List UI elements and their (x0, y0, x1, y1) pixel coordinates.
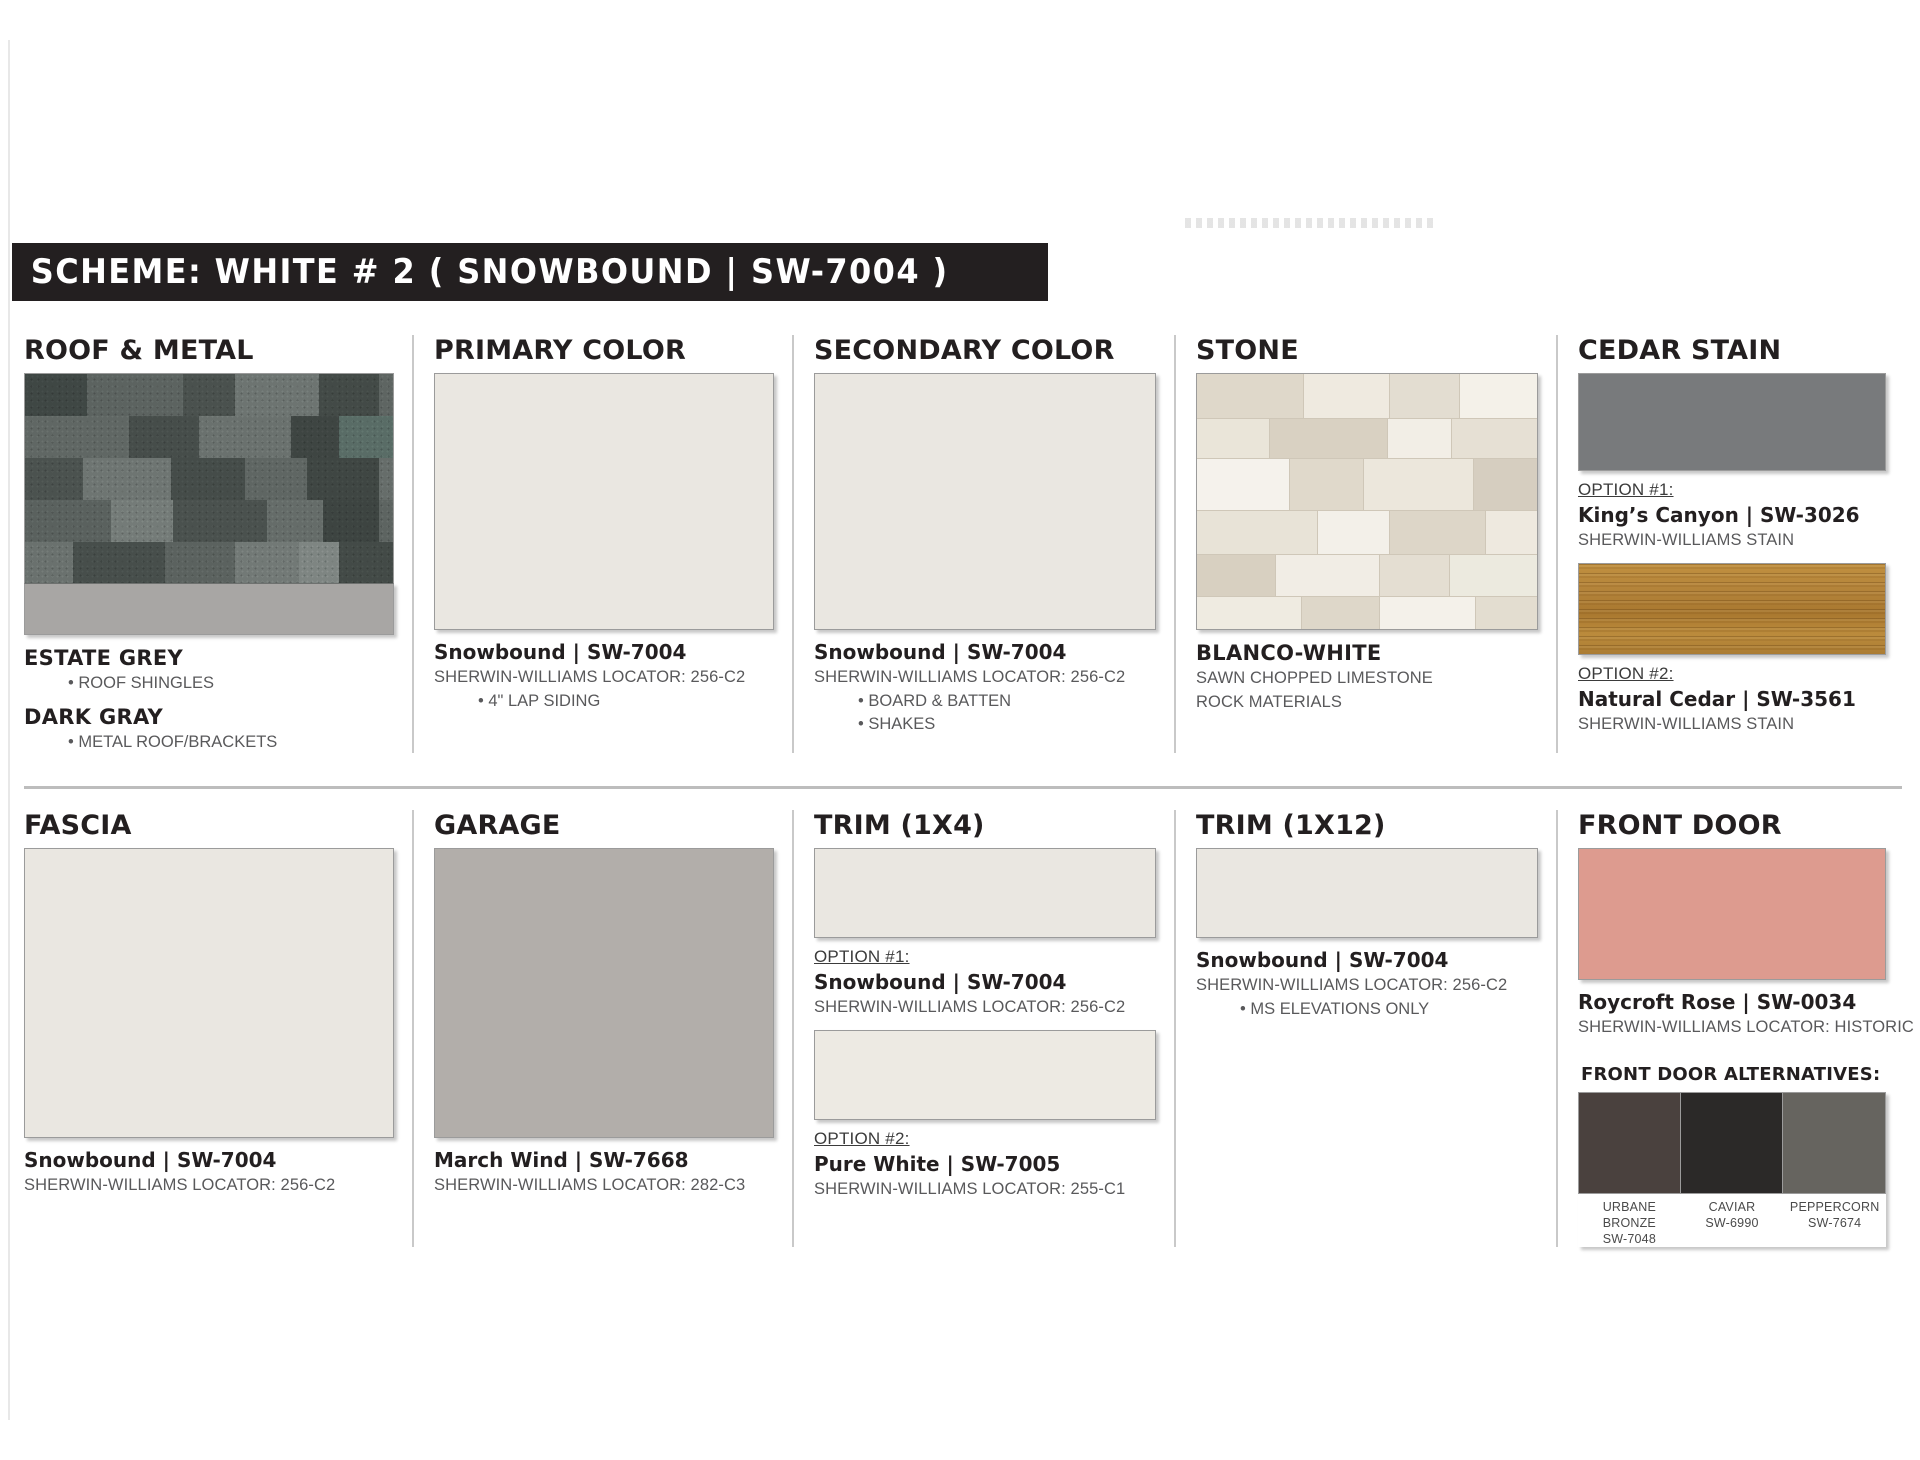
column-cedar-stain: CEDAR STAIN OPTION #1: King’s Canyon | S… (1556, 335, 1904, 753)
alt-name-urbane-bronze: URBANE BRONZE (1578, 1199, 1681, 1232)
primary-color-swatch[interactable] (434, 373, 774, 630)
stone-name: BLANCO-WHITE (1196, 641, 1538, 665)
primary-color-locator: SHERWIN-WILLIAMS LOCATOR: 256-C2 (434, 667, 774, 688)
column-title-garage: GARAGE (434, 810, 774, 841)
trim1x4-option1-name: Snowbound | SW-7004 (814, 971, 1156, 994)
stone-sub-limestone: SAWN CHOPPED LIMESTONE (1196, 668, 1538, 689)
column-title-fascia: FASCIA (24, 810, 394, 841)
scheme-banner: SCHEME: WHITE # 2 ( SNOWBOUND | SW-7004 … (12, 243, 1048, 301)
secondary-bullet-board-batten: • BOARD & BATTEN (814, 691, 1156, 712)
trim1x12-swatch[interactable] (1196, 848, 1538, 938)
column-title-trim-1x4: TRIM (1X4) (814, 810, 1156, 841)
column-trim-1x4: TRIM (1X4) OPTION #1: Snowbound | SW-700… (792, 810, 1174, 1247)
front-door-swatch[interactable] (1578, 848, 1886, 980)
alt-swatch-urbane-bronze[interactable]: URBANE BRONZE SW-7048 (1578, 1092, 1681, 1248)
alt-code-peppercorn: SW-7674 (1783, 1215, 1886, 1231)
front-door-locator: SHERWIN-WILLIAMS LOCATOR: HISTORIC (1578, 1017, 1886, 1038)
garage-locator: SHERWIN-WILLIAMS LOCATOR: 282-C3 (434, 1175, 774, 1196)
column-fascia: FASCIA Snowbound | SW-7004 SHERWIN-WILLI… (24, 810, 412, 1247)
alt-name-peppercorn: PEPPERCORN (1783, 1199, 1886, 1215)
column-stone: STONE (1174, 335, 1556, 753)
cedar-option1-swatch[interactable] (1578, 373, 1886, 471)
alt-code-urbane-bronze: SW-7048 (1578, 1231, 1681, 1247)
front-door-name: Roycroft Rose | SW-0034 (1578, 991, 1886, 1014)
column-trim-1x12: TRIM (1X12) Snowbound | SW-7004 SHERWIN-… (1174, 810, 1556, 1247)
column-title-roof: ROOF & METAL (24, 335, 394, 366)
column-primary-color: PRIMARY COLOR Snowbound | SW-7004 SHERWI… (412, 335, 792, 753)
secondary-color-swatch[interactable] (814, 373, 1156, 630)
cedar-option2-label: OPTION #2: (1578, 664, 1886, 684)
column-front-door: FRONT DOOR Roycroft Rose | SW-0034 SHERW… (1556, 810, 1904, 1247)
cedar-option1-label: OPTION #1: (1578, 480, 1886, 500)
trim1x12-name: Snowbound | SW-7004 (1196, 949, 1538, 972)
trim1x4-option1-swatch[interactable] (814, 848, 1156, 938)
alt-chip-peppercorn[interactable] (1783, 1092, 1886, 1194)
trim1x4-option1-label: OPTION #1: (814, 947, 1156, 967)
materials-row-1: ROOF & METAL (24, 335, 1904, 753)
trim1x4-option2-label: OPTION #2: (814, 1129, 1156, 1149)
secondary-color-name: Snowbound | SW-7004 (814, 641, 1156, 664)
fascia-name: Snowbound | SW-7004 (24, 1149, 394, 1172)
column-title-primary: PRIMARY COLOR (434, 335, 774, 366)
alt-name-caviar: CAVIAR (1681, 1199, 1784, 1215)
column-secondary-color: SECONDARY COLOR Snowbound | SW-7004 SHER… (792, 335, 1174, 753)
column-title-stone: STONE (1196, 335, 1538, 366)
cedar-option2-name: Natural Cedar | SW-3561 (1578, 688, 1886, 711)
cedar-option2-swatch[interactable] (1578, 563, 1886, 655)
scheme-title: SCHEME: WHITE # 2 ( SNOWBOUND | SW-7004 … (12, 252, 949, 292)
garage-swatch[interactable] (434, 848, 774, 1138)
fascia-swatch[interactable] (24, 848, 394, 1138)
materials-row-2: FASCIA Snowbound | SW-7004 SHERWIN-WILLI… (24, 810, 1904, 1247)
cedar-option1-name: King’s Canyon | SW-3026 (1578, 504, 1886, 527)
column-title-trim-1x12: TRIM (1X12) (1196, 810, 1538, 841)
roof-metal-swatch[interactable] (24, 583, 394, 635)
color-scheme-sheet: SCHEME: WHITE # 2 ( SNOWBOUND | SW-7004 … (0, 0, 1920, 1460)
trim1x4-option2-name: Pure White | SW-7005 (814, 1153, 1156, 1176)
column-title-front-door: FRONT DOOR (1578, 810, 1886, 841)
trim1x4-option2-swatch[interactable] (814, 1030, 1156, 1120)
trim1x4-option1-sub: SHERWIN-WILLIAMS LOCATOR: 256-C2 (814, 997, 1156, 1018)
roof-name-dark-gray: DARK GRAY (24, 705, 394, 729)
front-door-alternatives-title: FRONT DOOR ALTERNATIVES: (1581, 1064, 1886, 1085)
cedar-option2-sub: SHERWIN-WILLIAMS STAIN (1578, 714, 1886, 735)
page-left-rule (8, 40, 10, 1420)
roof-name-estate-grey: ESTATE GREY (24, 646, 394, 670)
alt-chip-caviar[interactable] (1681, 1092, 1784, 1194)
fascia-locator: SHERWIN-WILLIAMS LOCATOR: 256-C2 (24, 1175, 394, 1196)
shingle-grain-texture (25, 374, 393, 583)
alt-swatch-caviar[interactable]: CAVIAR SW-6990 (1681, 1092, 1784, 1248)
stone-swatch[interactable] (1196, 373, 1538, 630)
stone-sub-rock-materials: ROCK MATERIALS (1196, 692, 1538, 713)
column-title-cedar: CEDAR STAIN (1578, 335, 1886, 366)
alt-chip-urbane-bronze[interactable] (1578, 1092, 1681, 1194)
secondary-bullet-shakes: • SHAKES (814, 714, 1156, 735)
alt-swatch-peppercorn[interactable]: PEPPERCORN SW-7674 (1783, 1092, 1886, 1248)
primary-bullet-lap-siding: • 4" LAP SIDING (434, 691, 774, 712)
wood-grain-texture (1579, 564, 1885, 654)
primary-color-name: Snowbound | SW-7004 (434, 641, 774, 664)
trim1x4-option2-sub: SHERWIN-WILLIAMS LOCATOR: 255-C1 (814, 1179, 1156, 1200)
scan-artifact (1185, 218, 1435, 228)
roof-shingle-swatch[interactable] (24, 373, 394, 583)
column-roof-and-metal: ROOF & METAL (24, 335, 412, 753)
front-door-alternatives-strip: URBANE BRONZE SW-7048 CAVIAR SW-6990 PEP… (1578, 1092, 1886, 1248)
trim1x12-bullet-ms-elevations: • MS ELEVATIONS ONLY (1196, 999, 1538, 1020)
row-divider (24, 786, 1902, 789)
column-garage: GARAGE March Wind | SW-7668 SHERWIN-WILL… (412, 810, 792, 1247)
alt-code-caviar: SW-6990 (1681, 1215, 1784, 1231)
roof-bullet-shingles: • ROOF SHINGLES (24, 673, 394, 694)
garage-name: March Wind | SW-7668 (434, 1149, 774, 1172)
secondary-color-locator: SHERWIN-WILLIAMS LOCATOR: 256-C2 (814, 667, 1156, 688)
cedar-option1-sub: SHERWIN-WILLIAMS STAIN (1578, 530, 1886, 551)
trim1x12-locator: SHERWIN-WILLIAMS LOCATOR: 256-C2 (1196, 975, 1538, 996)
column-title-secondary: SECONDARY COLOR (814, 335, 1156, 366)
roof-bullet-metal: • METAL ROOF/BRACKETS (24, 732, 394, 753)
